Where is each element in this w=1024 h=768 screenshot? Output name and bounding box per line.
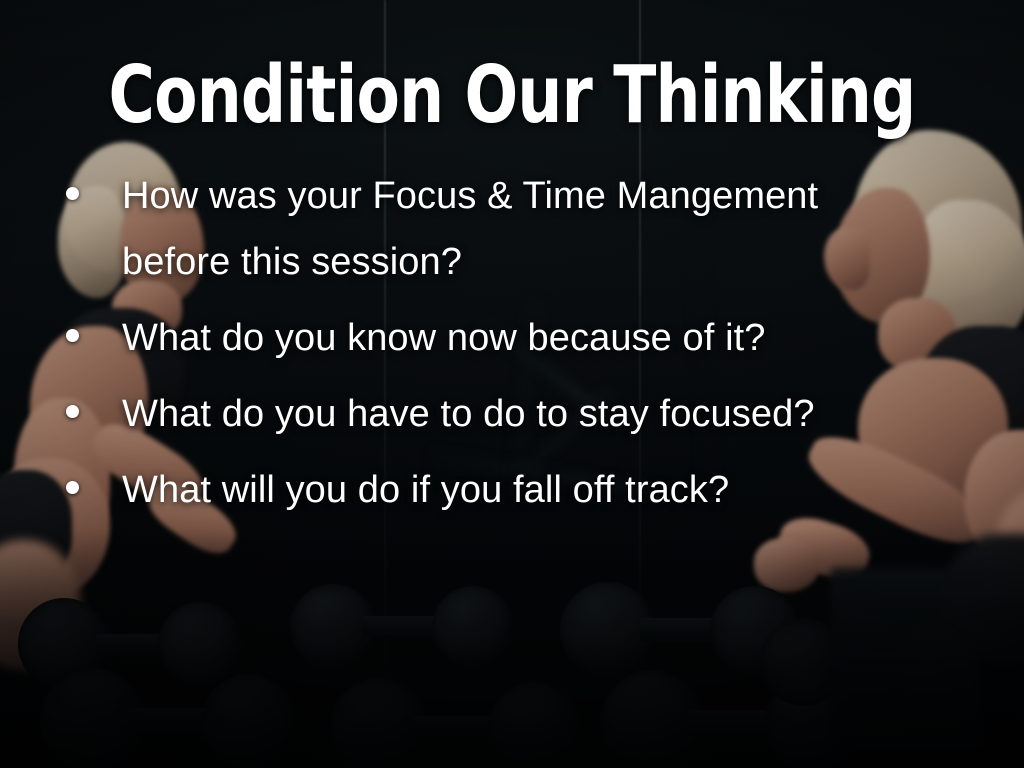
bullet-text: How was your Focus & Time Mangement befo… [122, 163, 912, 295]
list-item: How was your Focus & Time Mangement befo… [0, 163, 1024, 295]
bullet-text: What will you do if you fall off track? [122, 457, 912, 523]
bullet-marker-icon [66, 187, 79, 200]
slide-canvas: Condition Our Thinking How was your Focu… [0, 0, 1024, 768]
slide-title: Condition Our Thinking [102, 52, 921, 138]
list-item: What do you have to do to stay focused? [0, 381, 1024, 447]
bullet-list: How was your Focus & Time Mangement befo… [0, 163, 1024, 533]
list-item: What will you do if you fall off track? [0, 457, 1024, 523]
dumbbell-rack [0, 528, 1024, 768]
bullet-marker-icon [66, 329, 79, 342]
list-item: What do you know now because of it? [0, 305, 1024, 371]
bullet-text: What do you know now because of it? [122, 305, 912, 371]
bullet-marker-icon [66, 481, 79, 494]
bullet-text: What do you have to do to stay focused? [122, 381, 912, 447]
bullet-marker-icon [66, 405, 79, 418]
